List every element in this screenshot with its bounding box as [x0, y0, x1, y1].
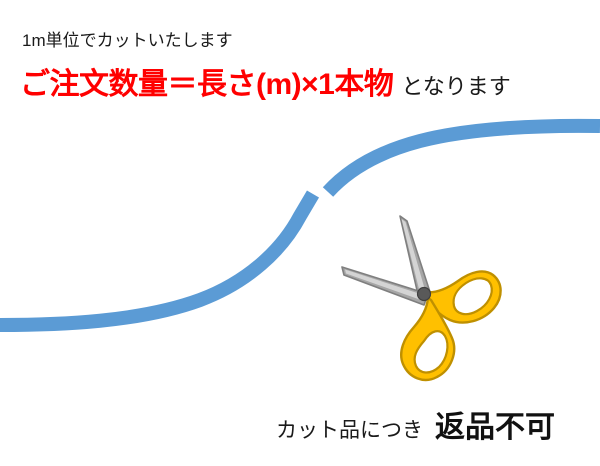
- blue-cable-left-segment: [0, 194, 313, 325]
- footnote-small-text: カット品につき: [276, 419, 423, 442]
- scissors-group: [342, 216, 501, 380]
- headline-main-red: ご注文数量＝長さ(m)×1本物: [20, 68, 393, 101]
- headline-subtitle: 1m単位でカットいたします: [22, 30, 233, 52]
- headline-main-black: となります: [401, 74, 510, 99]
- footnote: カット品につき返品不可: [276, 408, 555, 453]
- headline-main: ご注文数量＝長さ(m)×1本物となります: [20, 66, 511, 109]
- scissors-pivot-screw: [418, 288, 431, 301]
- illustration-canvas: 1m単位でカットいたします ご注文数量＝長さ(m)×1本物となります カット品に…: [0, 0, 600, 466]
- footnote-big-text: 返品不可: [435, 411, 555, 444]
- blue-cable-right-segment: [328, 126, 600, 192]
